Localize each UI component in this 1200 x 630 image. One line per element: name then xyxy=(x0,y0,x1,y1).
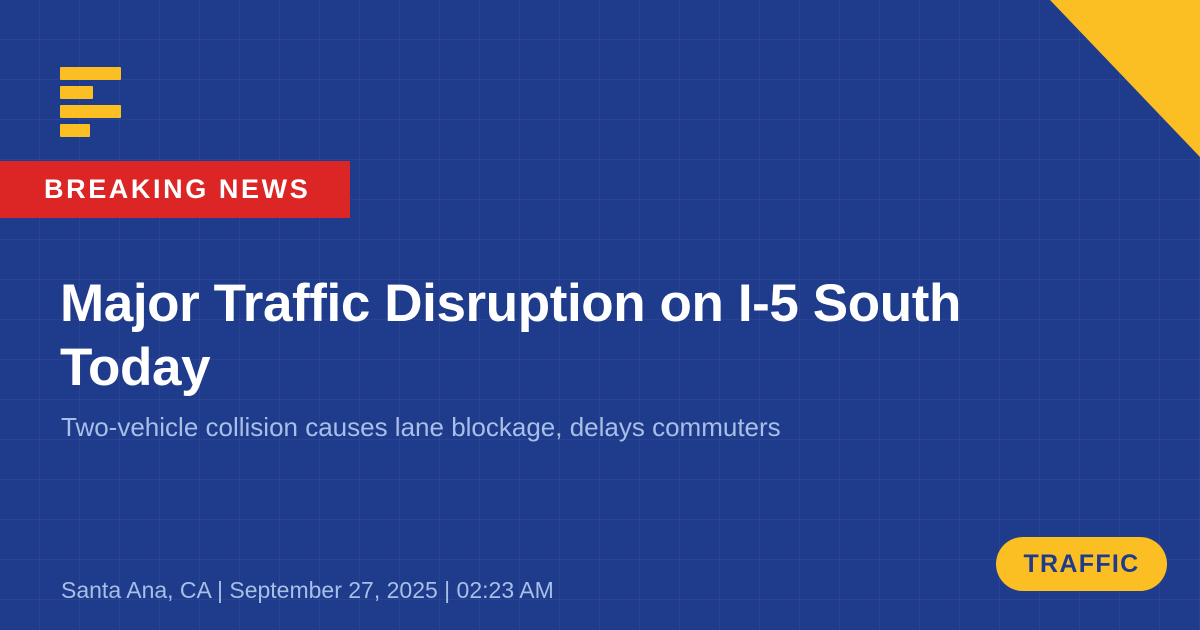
corner-wedge-decoration xyxy=(1050,0,1200,157)
logo-bar-1 xyxy=(60,67,121,80)
footer-meta-line: Santa Ana, CA | September 27, 2025 | 02:… xyxy=(61,576,554,604)
brand-logo xyxy=(60,67,121,137)
subheadline: Two-vehicle collision causes lane blocka… xyxy=(61,411,1061,443)
category-badge: TRAFFIC xyxy=(996,537,1167,591)
breaking-news-banner: BREAKING NEWS xyxy=(0,161,350,218)
category-badge-label: TRAFFIC xyxy=(1023,552,1139,577)
logo-bar-4 xyxy=(60,124,90,137)
logo-bar-2 xyxy=(60,86,93,99)
headline: Major Traffic Disruption on I-5 South To… xyxy=(60,272,1120,400)
logo-bar-3 xyxy=(60,105,121,118)
breaking-news-card: BREAKING NEWS Major Traffic Disruption o… xyxy=(0,0,1200,630)
breaking-news-label: BREAKING NEWS xyxy=(44,176,310,203)
